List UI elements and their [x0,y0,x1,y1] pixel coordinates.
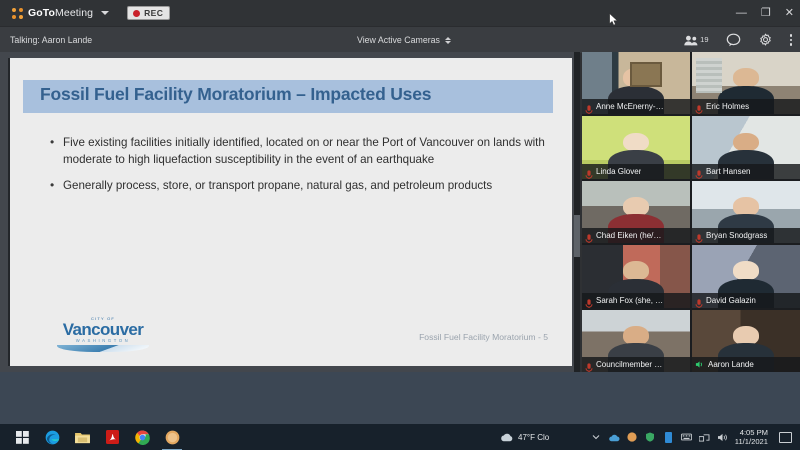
slide-bullet-list: • Five existing facilities initially ide… [50,134,555,203]
microphone-muted-icon [695,167,703,176]
chat-bubble-icon [726,33,741,47]
onedrive-icon[interactable] [609,432,620,443]
slide-title: Fossil Fuel Facility Moratorium – Impact… [40,84,550,105]
microphone-muted-icon [585,167,593,176]
microphone-muted-icon [585,296,593,305]
participant-name: Eric Holmes [706,102,749,111]
microphone-muted-icon [585,231,593,240]
gear-icon [758,33,773,48]
participant-name-bar: Anne McEnerny-… [582,99,690,114]
system-tray: 4:05 PM 11/1/2021 [591,428,792,446]
participant-tile[interactable]: Bart Hansen [692,116,800,178]
participant-tile[interactable]: Sarah Fox (she, … [582,245,690,307]
participant-tile[interactable]: Bryan Snodgrass [692,181,800,243]
volume-icon[interactable] [717,432,728,443]
participant-name: Bryan Snodgrass [706,231,767,240]
broadcast-overlay-area: 11/01/21 Vancouver City Council Workshop… [0,372,800,424]
window-controls: — ❐ ✕ [736,0,794,26]
participants-button[interactable]: 19 [684,35,708,46]
shield-icon[interactable] [645,432,656,443]
clock-date: 11/1/2021 [735,437,768,446]
participant-tile[interactable]: Aaron Lande [692,310,800,372]
window-titlebar: GoToMeeting REC — ❐ ✕ [0,0,800,26]
weather-text: 47°F Clo [518,433,549,442]
list-item: • Generally process, store, or transport… [50,177,555,194]
panel-scrollbar-track[interactable] [574,52,580,372]
chrome-browser-icon[interactable] [134,429,150,445]
participant-tile[interactable]: Eric Holmes [692,52,800,114]
logo-name: Vancouver [57,321,149,338]
participant-name-bar: Sarah Fox (she, … [582,293,690,308]
adobe-acrobat-icon[interactable] [104,429,120,445]
logo-wave-icon [57,345,149,352]
participant-tile[interactable]: Chad Eiken (he/… [582,181,690,243]
toolbar-actions: 19 [684,33,792,48]
participants-count: 19 [700,35,708,44]
screen: GoToMeeting REC — ❐ ✕ Talking: Aaron Lan… [0,0,800,450]
microphone-muted-icon [585,360,593,369]
participant-name-bar: Chad Eiken (he/… [582,228,690,243]
bullet-dot-icon: • [50,177,63,194]
cloud-icon [500,432,514,442]
tray-overflow-icon[interactable] [591,432,602,443]
bullet-text: Five existing facilities initially ident… [63,134,555,168]
participant-name-bar: David Galazin [692,293,800,308]
recording-label: REC [144,8,163,18]
powerpoint-slide: Fossil Fuel Facility Moratorium – Impact… [10,58,572,366]
app-name-bold: GoTo [28,7,55,19]
presentation-stage: Fossil Fuel Facility Moratorium – Impact… [0,52,578,372]
participant-tile[interactable]: Anne McEnerny-… [582,52,690,114]
participant-name: David Galazin [706,296,756,305]
notification-icon[interactable] [779,432,792,443]
participant-tile[interactable]: Linda Glover [582,116,690,178]
participant-name: Anne McEnerny-… [596,102,664,111]
chat-button[interactable] [726,33,741,47]
mouse-cursor [609,13,618,26]
recording-badge[interactable]: REC [127,6,170,20]
meeting-toolbar: Talking: Aaron Lande View Active Cameras… [0,26,800,53]
bullet-text: Generally process, store, or transport p… [63,177,492,194]
bullet-dot-icon: • [50,134,63,168]
windows-start-icon[interactable] [14,429,30,445]
participant-name-bar: Bryan Snodgrass [692,228,800,243]
list-item: • Five existing facilities initially ide… [50,134,555,168]
participant-name: Chad Eiken (he/… [596,231,661,240]
restore-button[interactable]: ❐ [761,8,771,19]
file-explorer-icon[interactable] [74,429,90,445]
participant-name: Councilmember … [596,360,662,369]
participant-name-bar: Eric Holmes [692,99,800,114]
vancouver-logo: CITY OF Vancouver WASHINGTON [57,316,149,352]
more-options-button[interactable] [790,34,793,46]
people-icon [684,35,698,46]
view-active-cameras-label: View Active Cameras [357,35,440,45]
meeting-app-icon[interactable] [164,429,180,445]
participant-name-bar: Councilmember … [582,357,690,372]
taskbar-weather[interactable]: 47°F Clo [500,432,549,442]
slide-footer: Fossil Fuel Facility Moratorium - 5 [419,332,548,342]
taskbar-clock[interactable]: 4:05 PM 11/1/2021 [735,428,768,446]
microphone-muted-icon [695,102,703,111]
panel-scrollbar-thumb[interactable] [574,215,580,257]
video-grid: Anne McEnerny-…Eric HolmesLinda GloverBa… [582,52,800,372]
speaker-active-icon [695,360,705,369]
minimize-button[interactable]: — [736,8,747,19]
record-dot-icon [133,10,140,17]
kebab-menu-icon [790,34,793,37]
blue-app-icon[interactable] [663,432,674,443]
participant-name: Sarah Fox (she, … [596,296,663,305]
taskbar-icons [14,429,180,445]
participant-tile[interactable]: David Galazin [692,245,800,307]
gotomeeting-logo-icon [12,8,23,19]
talking-status: Talking: Aaron Lande [10,35,92,45]
app-name: GoToMeeting [28,7,93,19]
participant-name-bar: Aaron Lande [692,357,800,372]
view-active-cameras-control[interactable]: View Active Cameras [357,35,451,45]
participant-name-bar: Linda Glover [582,164,690,179]
participant-name: Bart Hansen [706,167,750,176]
app-name-rest: Meeting [55,7,93,19]
settings-button[interactable] [758,33,773,48]
microphone-muted-icon [695,296,703,305]
app-icon[interactable] [627,432,638,443]
network-icon[interactable] [699,432,710,443]
participant-name-bar: Bart Hansen [692,164,800,179]
edge-browser-icon[interactable] [44,429,60,445]
shared-screen[interactable]: Fossil Fuel Facility Moratorium – Impact… [8,58,572,366]
microphone-muted-icon [695,231,703,240]
keyboard-icon[interactable] [681,432,692,443]
windows-taskbar: 47°F Clo [0,424,800,450]
microphone-muted-icon [585,102,593,111]
gotomeeting-window: GoToMeeting REC — ❐ ✕ Talking: Aaron Lan… [0,0,800,424]
participant-name: Aaron Lande [708,360,754,369]
clock-time: 4:05 PM [735,428,768,437]
participant-tile[interactable]: Councilmember … [582,310,690,372]
caret-down-icon[interactable] [101,11,109,15]
participant-name: Linda Glover [596,167,641,176]
up-down-chevron-icon[interactable] [445,37,451,44]
close-button[interactable]: ✕ [785,8,794,19]
gotomeeting-menu[interactable]: GoToMeeting [12,7,109,19]
